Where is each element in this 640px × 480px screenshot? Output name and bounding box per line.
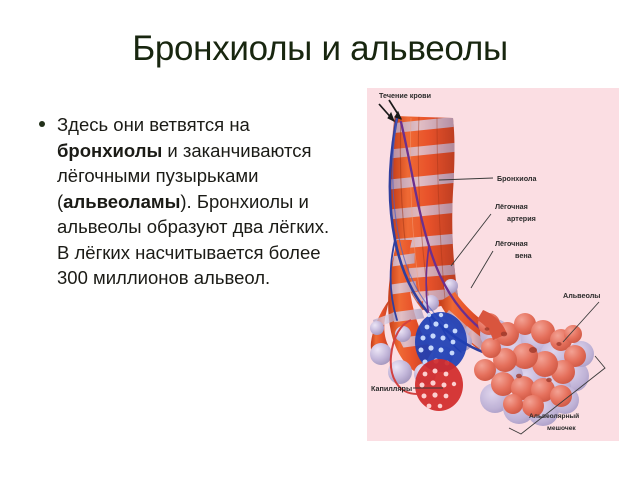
label-pulmonary-artery-line1: Лёгочная [495, 202, 528, 211]
label-pulmonary-artery-line2: артерия [507, 214, 536, 223]
label-blood-flow: Течение крови [379, 91, 431, 100]
label-alveoli: Альвеолы [563, 291, 600, 300]
anatomy-diagram-panel: Течение крови Бронхиола Лёгочная артерия… [367, 88, 619, 441]
page-title: Бронхиолы и альвеолы [0, 30, 640, 69]
list-item: Здесь они ветвятся на бронхиолы и заканч… [32, 112, 332, 291]
emphasis-term: бронхиолы [57, 140, 162, 161]
slide-root: { "slide": { "title": "Бронхиолы и альве… [0, 0, 640, 480]
label-alveolar-sac-line2: мешочек [547, 425, 576, 432]
emphasis-term: альвеоламы [63, 191, 180, 212]
label-bronchiole: Бронхиола [497, 174, 537, 183]
body-text-block: Здесь они ветвятся на бронхиолы и заканч… [32, 112, 332, 291]
bullet-text: Здесь они ветвятся на бронхиолы и заканч… [57, 114, 329, 288]
label-pulmonary-vein-line1: Лёгочная [495, 239, 528, 248]
label-pulmonary-vein-line2: вена [515, 251, 533, 260]
body-run: Здесь они ветвятся на [57, 114, 250, 135]
bullet-icon [39, 121, 45, 127]
anatomy-diagram-image: Течение крови Бронхиола Лёгочная артерия… [367, 88, 619, 441]
label-alveolar-sac-line1: Альвеолярный [529, 412, 579, 420]
label-capillaries: Капилляры [371, 384, 412, 393]
